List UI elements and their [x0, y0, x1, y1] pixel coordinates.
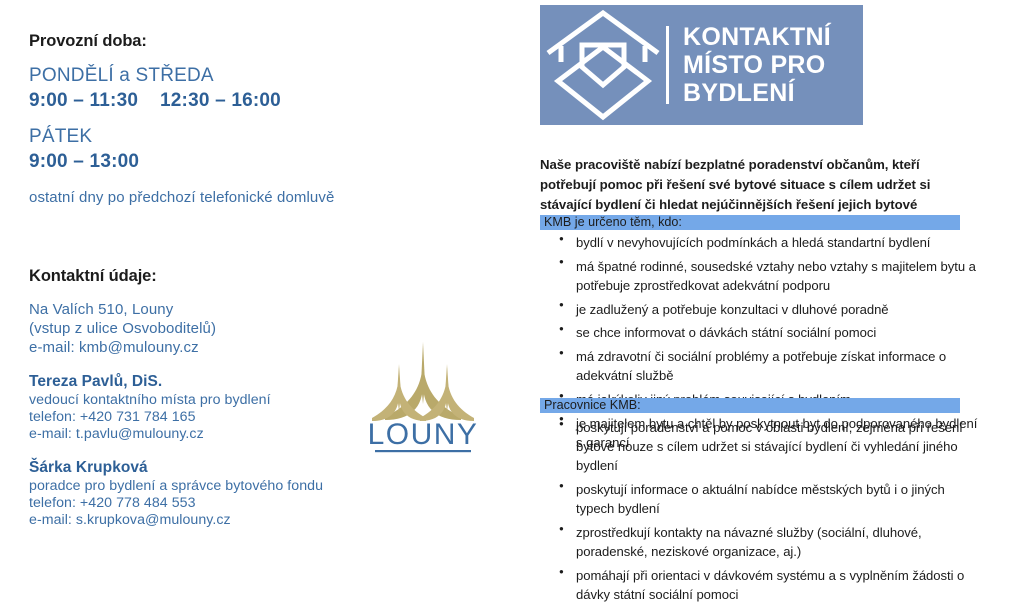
list-item: bydlí v nevyhovujících podmínkách a hled… — [540, 233, 980, 252]
banner-title-line-3: BYDLENÍ — [683, 79, 831, 107]
kmb-services-list: poskytují poradenství a pomoc v oblasti … — [540, 418, 985, 609]
header-banner: KONTAKTNÍ MÍSTO PRO BYDLENÍ — [540, 5, 863, 125]
opening-hours-day-1: PÁTEK — [29, 126, 429, 148]
opening-hours-heading: Provozní doba: — [29, 32, 429, 51]
opening-hours-times-0: 9:00 – 11:30 12:30 – 16:00 — [29, 90, 429, 112]
section-heading-kmb-staff: Pracovnice KMB: — [540, 398, 960, 413]
contact-details-heading: Kontaktní údaje: — [29, 267, 429, 286]
banner-title: KONTAKTNÍ MÍSTO PRO BYDLENÍ — [683, 23, 831, 107]
list-item: poskytují poradenství a pomoc v oblasti … — [540, 418, 985, 476]
opening-hours-note: ostatní dny po předchozí telefonické dom… — [29, 189, 429, 206]
list-item: má špatné rodinné, sousedské vztahy nebo… — [540, 257, 980, 295]
section-heading-kmb-for-whom: KMB je určeno těm, kdo: — [540, 215, 960, 230]
banner-title-line-2: MÍSTO PRO — [683, 51, 831, 79]
list-item: má zdravotní či sociální problémy a potř… — [540, 347, 980, 385]
left-column: Provozní doba: PONDĚLÍ a STŘEDA 9:00 – 1… — [0, 0, 520, 576]
contact-person-1-role: poradce pro bydlení a správce bytového f… — [29, 478, 429, 494]
opening-hours-block: Provozní doba: PONDĚLÍ a STŘEDA 9:00 – 1… — [29, 32, 429, 206]
list-item: se chce informovat o dávkách státní soci… — [540, 323, 980, 342]
opening-hours-times-1: 9:00 – 13:00 — [29, 151, 429, 173]
right-column: KONTAKTNÍ MÍSTO PRO BYDLENÍ LOUNY Naše p… — [533, 0, 1024, 576]
banner-title-line-1: KONTAKTNÍ — [683, 23, 831, 51]
banner-divider — [666, 26, 669, 104]
list-item: je zadlužený a potřebuje konzultaci v dl… — [540, 300, 980, 319]
contact-address-street: Na Valích 510, Louny — [29, 301, 429, 318]
opening-hours-day-0: PONDĚLÍ a STŘEDA — [29, 65, 429, 87]
contact-person-1-phone[interactable]: telefon: +420 778 484 553 — [29, 495, 429, 511]
louny-underline — [375, 450, 471, 452]
contact-person-1-email[interactable]: e-mail: s.krupkova@mulouny.cz — [29, 512, 429, 528]
house-logo-icon — [544, 9, 662, 121]
louny-spires-icon — [372, 342, 474, 421]
list-item: poskytují informace o aktuální nabídce m… — [540, 480, 985, 518]
louny-logo-large: LOUNY — [358, 338, 488, 456]
list-item: pomáhají při orientaci v dávkovém systém… — [540, 566, 985, 604]
list-item: zprostředkují kontakty na návazné služby… — [540, 523, 985, 561]
contact-person-1-name: Šárka Krupková — [29, 459, 429, 477]
contact-address-entrance: (vstup z ulice Osvoboditelů) — [29, 320, 429, 337]
louny-wordmark: LOUNY — [368, 418, 479, 451]
